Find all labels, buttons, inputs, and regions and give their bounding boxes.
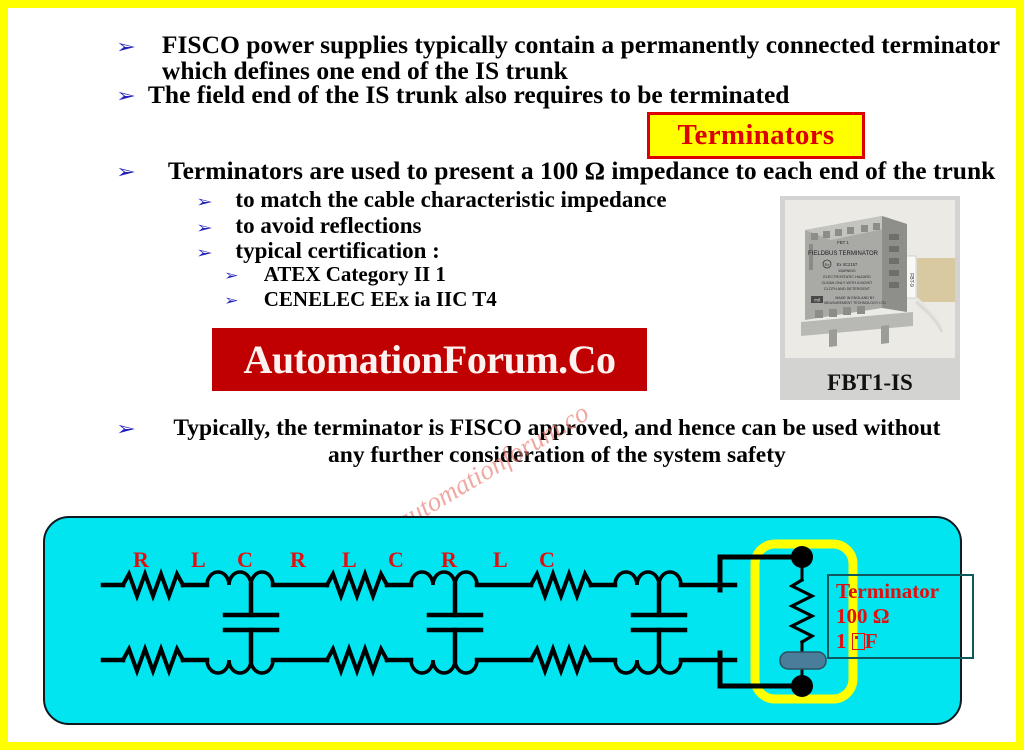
bullet-item-1: ➢ FISCO power supplies typically contain… — [116, 32, 1006, 83]
rlc-ladder-schematic — [45, 518, 960, 723]
product-photo-image: FBT-9 — [785, 200, 955, 358]
bullet-arrow-icon: ➢ — [116, 420, 136, 439]
bullet-arrow-icon: ➢ — [196, 194, 213, 210]
svg-text:WARNING: WARNING — [838, 269, 855, 273]
sub-sub-bullet-item-1: ➢ ATEX Category II 1 — [224, 264, 446, 285]
sub-bullet-text-2: to avoid reflections — [235, 214, 421, 237]
sub-bullet-item-3: ➢ typical certification : — [196, 239, 440, 262]
bullet-text-1: FISCO power supplies typically contain a… — [162, 32, 1006, 83]
terminator-callout-title: Terminator — [836, 579, 972, 604]
bullet-text-2: The field end of the IS trunk also requi… — [148, 82, 790, 108]
terminal-node-top — [791, 546, 813, 568]
slide-root: ➢ FISCO power supplies typically contain… — [0, 0, 1024, 750]
terminal-node-bottom — [791, 675, 813, 697]
bullet-item-4: ➢ Typically, the terminator is FISCO app… — [116, 415, 996, 469]
terminators-title-box: Terminators — [647, 112, 865, 159]
sub-bullet-text-3: typical certification : — [235, 239, 439, 262]
svg-text:Ex IIC2157: Ex IIC2157 — [837, 262, 858, 267]
sub-sub-bullet-text-1: ATEX Category II 1 — [264, 264, 446, 285]
terminators-title-label: Terminators — [678, 119, 835, 152]
bullet-arrow-icon: ➢ — [116, 87, 136, 106]
svg-text:MEASUREMENT TECHNOLOGY LTD: MEASUREMENT TECHNOLOGY LTD — [824, 301, 886, 305]
bullet-arrow-icon: ➢ — [224, 269, 239, 283]
svg-text:ELECTROSTATIC HAZARD: ELECTROSTATIC HAZARD — [823, 275, 871, 279]
terminator-capacitor-block — [780, 652, 826, 669]
automationforum-logo-text: AutomationForum.Co — [243, 336, 615, 383]
sub-bullet-item-1: ➢ to match the cable characteristic impe… — [196, 188, 667, 211]
terminator-callout-box: Terminator 100 Ω 1 F — [827, 574, 974, 659]
fieldbus-terminator-photo-svg: FBT-9 — [785, 200, 955, 358]
svg-text:FIELDBUS TERMINATOR: FIELDBUS TERMINATOR — [808, 251, 879, 257]
terminator-callout-capacitance: 1 F — [836, 629, 972, 654]
sub-sub-bullet-text-2: CENELEC EEx ia IIC T4 — [264, 289, 497, 310]
sub-sub-bullet-item-2: ➢ CENELEC EEx ia IIC T4 — [224, 289, 497, 310]
bullet-arrow-icon: ➢ — [224, 294, 239, 308]
bullet-arrow-icon: ➢ — [116, 38, 136, 57]
svg-text:Ex: Ex — [825, 262, 830, 267]
bullet-arrow-icon: ➢ — [196, 220, 213, 236]
bullet-text-3: Terminators are used to present a 100 Ω … — [168, 158, 995, 184]
product-photo-card: FBT-9 — [780, 196, 960, 400]
capacitance-unit: F — [865, 629, 878, 653]
circuit-diagram-panel: R L C R L C R L C — [43, 516, 962, 725]
svg-text:FBT-9: FBT-9 — [908, 273, 914, 287]
bullet-item-3: ➢ Terminators are used to present a 100 … — [116, 158, 1016, 184]
bullet-arrow-icon: ➢ — [196, 245, 213, 261]
bullet-arrow-icon: ➢ — [116, 163, 136, 182]
svg-text:FBT 1: FBT 1 — [837, 240, 849, 245]
svg-text:CLOTH AND DETERGENT: CLOTH AND DETERGENT — [824, 287, 871, 291]
capacitance-value: 1 — [836, 629, 847, 653]
product-photo-caption: FBT1-IS — [780, 370, 960, 396]
bullet-text-4: Typically, the terminator is FISCO appro… — [162, 415, 952, 469]
svg-text:MADE IN ENGLAND BY: MADE IN ENGLAND BY — [835, 296, 875, 300]
sub-bullet-item-2: ➢ to avoid reflections — [196, 214, 422, 237]
terminator-callout-resistance: 100 Ω — [836, 604, 972, 629]
svg-text:mtl: mtl — [814, 298, 820, 303]
svg-text:CLEAN ONLY WITH A MOIST: CLEAN ONLY WITH A MOIST — [822, 281, 873, 285]
missing-glyph-icon — [852, 633, 865, 650]
sub-bullet-text-1: to match the cable characteristic impeda… — [235, 188, 666, 211]
automationforum-logo: AutomationForum.Co — [212, 328, 647, 391]
bullet-item-2: ➢ The field end of the IS trunk also req… — [116, 82, 1006, 108]
